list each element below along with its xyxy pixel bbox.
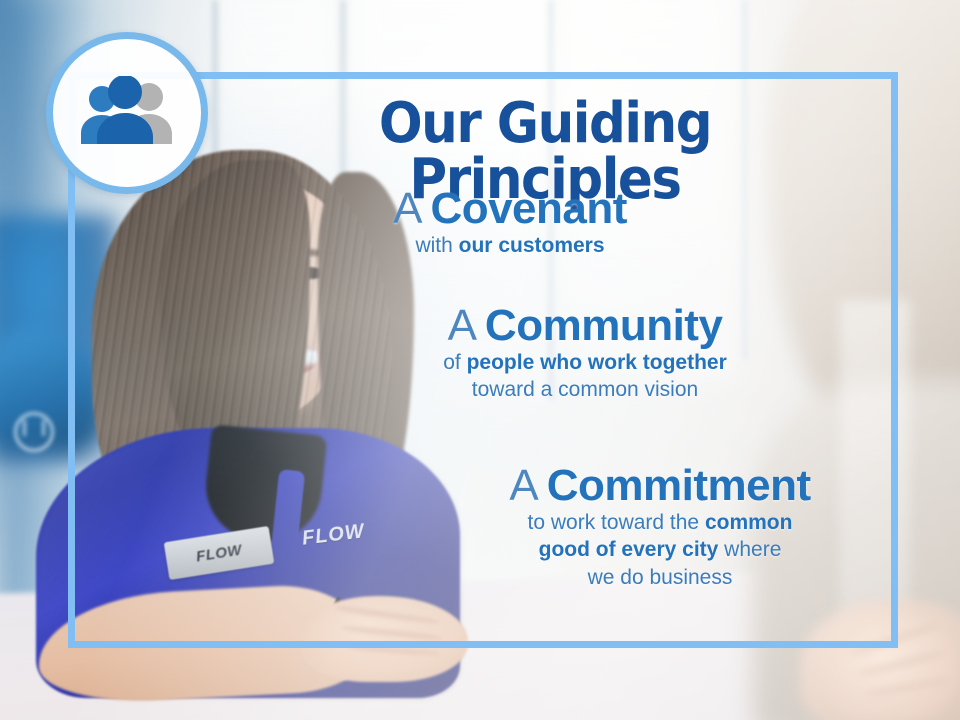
window-mullion [742, 0, 748, 360]
window-mullion [548, 0, 554, 400]
name-badge-text: FLOW [195, 542, 243, 564]
people-group-icon [75, 76, 179, 150]
associate-clasped-hands [300, 596, 468, 682]
window-panel-right [560, 0, 740, 380]
people-group-badge [46, 32, 208, 194]
blurred-vw-logo [14, 412, 54, 452]
banner-image: FLOW FLOW [0, 0, 960, 720]
